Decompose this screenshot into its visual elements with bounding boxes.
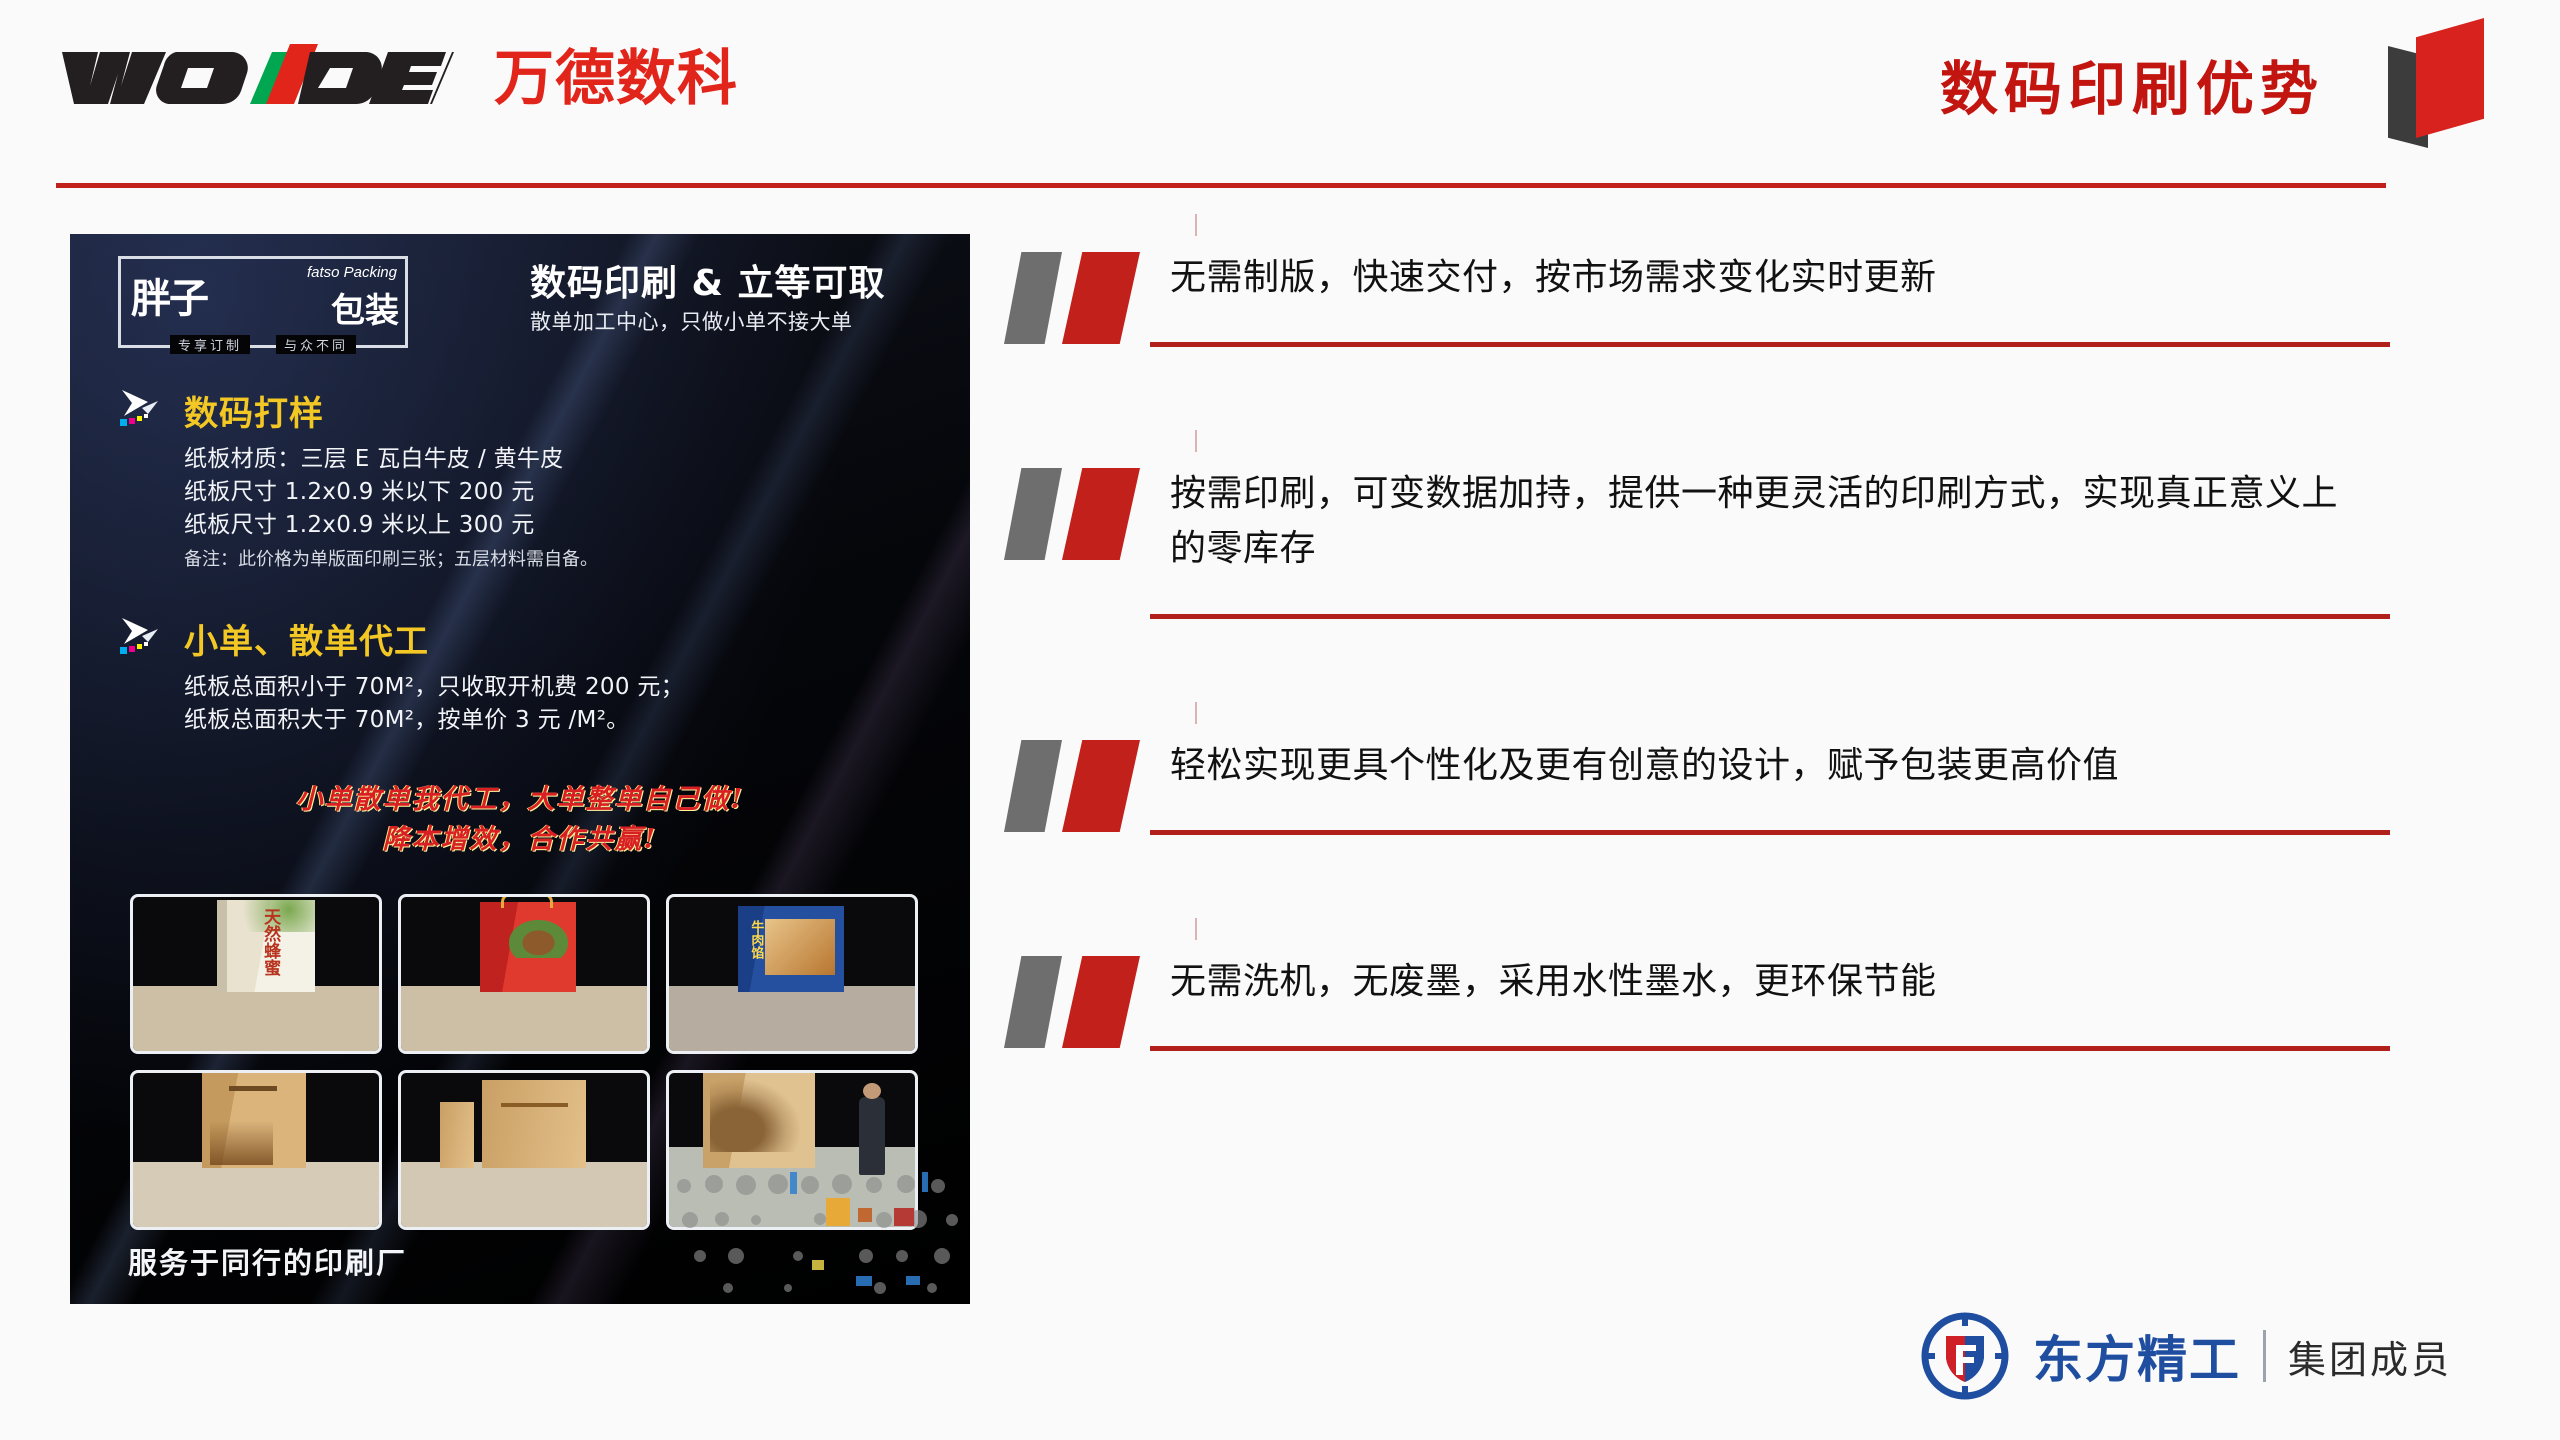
slogan-line-2: 降本增效，合作共赢!: [70, 820, 970, 860]
tick-mark: [1195, 918, 1197, 940]
fatso-logo-cn2: 包装: [331, 283, 399, 332]
poster-footer-text: 服务于同行的印刷厂: [128, 1240, 407, 1282]
footer-brand: 东方精工 集团成员: [1919, 1310, 2452, 1402]
page-header: 万德数科 数码印刷优势: [0, 0, 2560, 190]
poster-headline: 数码印刷 & 立等可取: [530, 254, 885, 306]
section-title: 小单、散单代工: [184, 614, 938, 663]
fatso-tag-left: 专享订制: [170, 335, 250, 354]
promo-poster-image: 胖子 fatso Packing 包装 专享订制 与众不同 数码印刷 & 立等可…: [70, 234, 970, 1304]
poster-subhead: 散单加工中心，只做小单不接大单: [530, 306, 853, 336]
poster-section-2: 小单、散单代工 纸板总面积小于 70M²，只收取开机费 200 元； 纸板总面积…: [118, 614, 938, 737]
product-photo: [398, 1070, 650, 1230]
fatso-tag-right: 与众不同: [276, 335, 356, 354]
advantage-underline: [1150, 830, 2390, 835]
advantages-list: 无需制版，快速交付，按市场需求变化实时更新 按需印刷，可变数据加持，提供一种更灵…: [1000, 250, 2400, 1170]
advantage-text: 按需印刷，可变数据加持，提供一种更灵活的印刷方式，实现真正意义上的零库存: [1170, 466, 2350, 586]
poster-header-band: 胖子 fatso Packing 包装 专享订制 与众不同 数码印刷 & 立等可…: [70, 234, 970, 362]
fatso-packing-logo: 胖子 fatso Packing 包装 专享订制 与众不同: [118, 256, 408, 348]
chevron-arrow-icon: [118, 616, 174, 660]
chevron-marker-icon: [1000, 250, 1150, 344]
product-photo: 牛肉馅: [666, 894, 918, 1054]
advantage-text: 轻松实现更具个性化及更有创意的设计，赋予包装更高价值: [1170, 738, 2350, 803]
advantage-text: 无需洗机，无废墨，采用水性墨水，更环保节能: [1170, 954, 2350, 1019]
slogan-line-1: 小单散单我代工，大单整单自己做!: [70, 780, 970, 820]
product-photo: 天然蜂蜜: [130, 894, 382, 1054]
footer-company-name: 东方精工: [2033, 1320, 2241, 1392]
advantage-underline: [1150, 614, 2390, 619]
halftone-dots-decoration: [670, 1164, 970, 1304]
advantage-item-1[interactable]: 无需制版，快速交付，按市场需求变化实时更新: [1000, 250, 2400, 370]
tick-mark: [1195, 214, 1197, 236]
dongfang-jingong-logo-icon: [1919, 1310, 2011, 1402]
chevron-marker-icon: [1000, 954, 1150, 1048]
section-line: 纸板总面积大于 70M²，按单价 3 元 /M²。: [184, 704, 938, 737]
section-line: 纸板尺寸 1.2x0.9 米以上 300 元: [184, 509, 938, 542]
chevron-arrow-icon: [118, 388, 174, 432]
product-photo: [398, 894, 650, 1054]
section-title: 数码打样: [184, 386, 938, 435]
chevron-marker-icon: [1000, 738, 1150, 832]
advantage-underline: [1150, 1046, 2390, 1051]
poster-slogan: 小单散单我代工，大单整单自己做! 降本增效，合作共赢!: [70, 780, 970, 860]
footer-member-label: 集团成员: [2288, 1329, 2452, 1384]
advantage-item-2[interactable]: 按需印刷，可变数据加持，提供一种更灵活的印刷方式，实现真正意义上的零库存: [1000, 466, 2400, 642]
fatso-logo-en: fatso Packing: [307, 264, 397, 281]
tick-mark: [1195, 702, 1197, 724]
advantage-text: 无需制版，快速交付，按市场需求变化实时更新: [1170, 250, 2350, 315]
tick-mark: [1195, 430, 1197, 452]
corner-decoration-icon: [2388, 8, 2498, 158]
chevron-marker-icon: [1000, 466, 1150, 560]
poster-section-1: 数码打样 纸板材质：三层 E 瓦白牛皮 / 黄牛皮 纸板尺寸 1.2x0.9 米…: [118, 386, 938, 571]
section-note: 备注：此价格为单版面印刷三张；五层材料需自备。: [184, 545, 938, 571]
advantage-item-4[interactable]: 无需洗机，无废墨，采用水性墨水，更环保节能: [1000, 954, 2400, 1074]
fatso-logo-cn: 胖子: [131, 266, 207, 324]
header-divider: [56, 183, 2386, 188]
wonder-logo: 万德数科: [58, 38, 738, 110]
page-title: 数码印刷优势: [1940, 42, 2324, 126]
section-line: 纸板材质：三层 E 瓦白牛皮 / 黄牛皮: [184, 443, 938, 476]
advantage-underline: [1150, 342, 2390, 347]
advantage-item-3[interactable]: 轻松实现更具个性化及更有创意的设计，赋予包装更高价值: [1000, 738, 2400, 858]
wonder-logo-cn: 万德数科: [494, 48, 738, 110]
section-line: 纸板尺寸 1.2x0.9 米以下 200 元: [184, 476, 938, 509]
wonder-wordmark: [58, 42, 488, 110]
product-photo: [130, 1070, 382, 1230]
section-line: 纸板总面积小于 70M²，只收取开机费 200 元；: [184, 671, 938, 704]
footer-divider: [2263, 1330, 2266, 1382]
